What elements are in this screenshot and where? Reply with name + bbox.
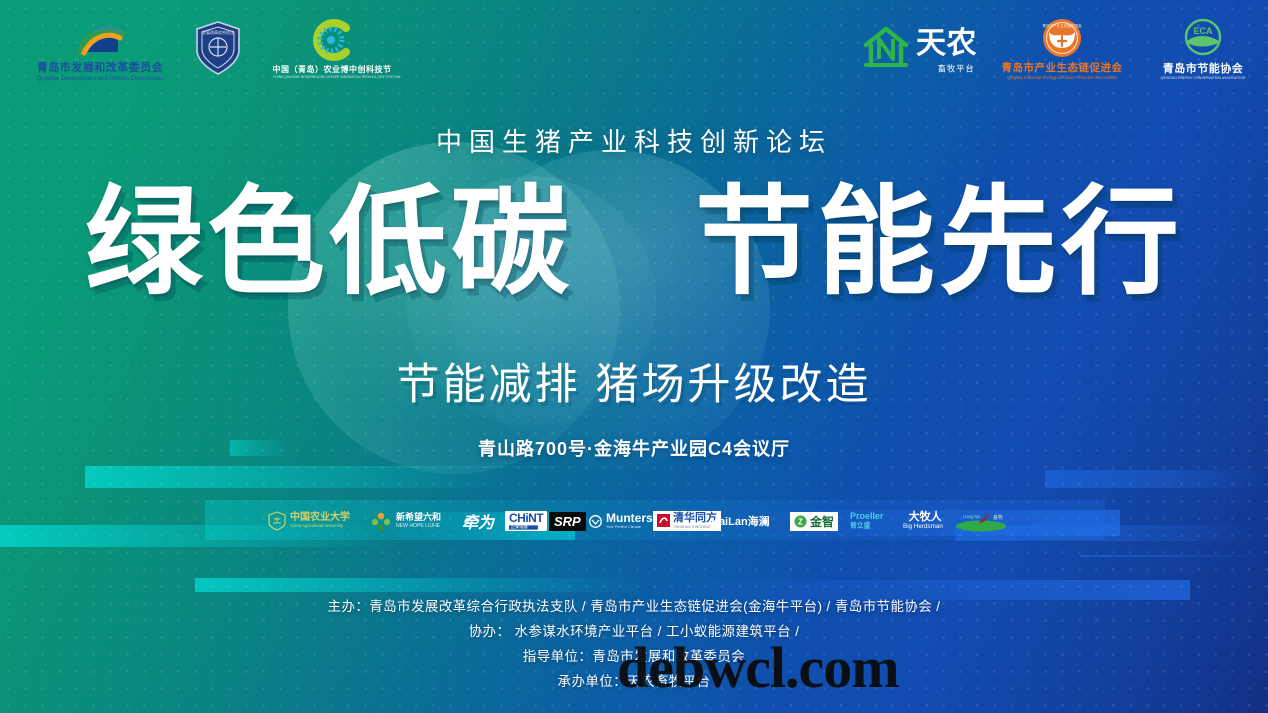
logo-cn-label: 天农 <box>916 18 977 62</box>
liangmu-pasture-icon: Liang Mu 良牧 <box>955 510 1007 532</box>
logo-energy-conservation-association: ECA 青岛市节能协会 QINGDAO ENERGY CONSERVATION … <box>1150 18 1256 80</box>
sponsor-name: 新希望六和 <box>396 513 448 522</box>
new-hope-diamond-icon <box>370 511 392 531</box>
sponsor-name: Proeller <box>850 512 884 521</box>
eca-leaf-circle-icon: ECA <box>1180 18 1226 58</box>
ox-head-circle-icon: 青岛市产业生态链促进会 <box>1041 18 1083 58</box>
top-logo-row: 青岛市发展和改革委员会 Qingdao Development and Refo… <box>0 0 1268 98</box>
tongfang-mark-icon <box>657 514 670 527</box>
sponsor-big-herdsman: 大牧人 Big Herdsman <box>903 508 947 534</box>
logo-en-label: Qingdao Development and Reform Commissio… <box>30 75 170 81</box>
liangmu-cn: 良牧 <box>993 514 1003 521</box>
sponsor-hailan: HaiLan海澜 <box>711 508 770 534</box>
sponsor-benwei: 牵为 <box>462 508 494 534</box>
credit-line-organizers: 主办：青岛市发展改革综合行政执法支队 / 青岛市产业生态链促进会(金海牛平台) … <box>0 594 1268 619</box>
agri-expo-c-icon <box>302 18 362 62</box>
sponsor-name: CHiNT <box>509 512 543 525</box>
jinzhi-mark-icon: Z <box>794 515 807 528</box>
logo-en-label: QINGDAO ENERGY CONSERVATION ASSOCIATION <box>1154 76 1252 80</box>
svg-text:Z: Z <box>798 517 803 526</box>
deco-bar-6 <box>1045 470 1268 488</box>
sponsor-en: Your Perfect Climate <box>606 525 646 529</box>
tiannong-house-icon <box>863 25 909 69</box>
logo-cn-label: 青岛市发展和改革委员会 <box>24 59 176 75</box>
poster-subheadline: 节能减排 猪场升级改造 <box>0 350 1268 412</box>
credits-block: 主办：青岛市发展改革综合行政执法支队 / 青岛市产业生态链促进会(金海牛平台) … <box>0 594 1268 694</box>
eca-monogram: ECA <box>1193 26 1213 36</box>
credit-line-coorganizers: 协办： 水参谋水环境产业平台 / 工小蚁能源建筑平台 / <box>0 619 1268 644</box>
poster-canvas: 青岛市发展和改革委员会 Qingdao Development and Refo… <box>0 0 1268 713</box>
sponsor-name: HaiLan海澜 <box>711 513 770 529</box>
sponsor-jinzhi: Z 金智 <box>790 508 838 534</box>
sponsor-en: Big Herdsman <box>903 523 943 530</box>
poster-headline: 绿色低碳 节能先行 <box>0 181 1268 306</box>
cau-crest-icon <box>268 511 286 531</box>
logo-en-label: CHINA QINGDAO MODERN AGRICULTURE INNOVAT… <box>273 75 391 79</box>
logo-qingdao-development-reform-commission: 青岛市发展和改革委员会 Qingdao Development and Refo… <box>24 22 176 82</box>
sponsor-china-agricultural-university: 中国农业大学 China Agricultural University <box>268 508 353 534</box>
logo-cn-label: 青岛市产业生态链促进会 <box>990 60 1134 75</box>
logo-china-qingdao-agri-expo: 中国（青岛）农业博中创科技节 CHINA QINGDAO MODERN AGRI… <box>268 18 396 79</box>
credit-line-host-unit: 承办单位：天农畜牧平台 <box>0 669 1268 694</box>
sponsor-name: 大牧人 <box>909 512 942 524</box>
deco-bar-4 <box>195 578 645 592</box>
sponsor-name: SRP <box>554 514 581 529</box>
sponsor-en: TSINGHUA TONGFANG <box>673 525 710 529</box>
sponsor-new-hope-liuhe: 新希望六和 NEW HOPE LIUHE <box>370 508 448 534</box>
sponsor-logo-strip: 中国农业大学 China Agricultural University 新希望… <box>0 500 1268 550</box>
sponsor-chint: CHiNT 正泰电器 <box>505 508 547 534</box>
forum-name: 中国生猪产业科技创新论坛 <box>0 122 1268 159</box>
sponsor-en: NEW HOPE LIUHE <box>396 523 440 528</box>
sponsor-liang-mu: Liang Mu 良牧 <box>955 508 1007 534</box>
logo-law-enforcement-emblem: 发展改革综合执法 <box>192 20 244 76</box>
deco-bar-5 <box>85 466 585 468</box>
sponsor-cn: 普立盛 <box>850 522 879 529</box>
venue-address: 青山路700号·金海牛产业园C4会议厅 <box>0 435 1268 461</box>
logo-industrial-ecological-chain: 青岛市产业生态链促进会 青岛市产业生态链促进会 Qingdao Industri… <box>990 18 1134 80</box>
sponsor-sub: 正泰电器 <box>509 525 538 529</box>
logo-cn-label: 中国（青岛）农业博中创科技节 <box>268 64 396 75</box>
qddrc-emblem-icon <box>72 22 128 56</box>
shield-text: 发展改革综合执法 <box>202 29 234 35</box>
sponsor-en: China Agricultural University <box>290 524 343 528</box>
deco-bar-1 <box>85 468 515 488</box>
munters-mark-icon <box>589 515 602 528</box>
sponsor-munters: Munters Your Perfect Climate <box>589 508 653 534</box>
sponsor-srp: SRP <box>549 508 586 534</box>
logo-en-label: Qingdao Industrial Ecological Chain Prom… <box>996 75 1128 80</box>
sponsor-proeller: Proeller 普立盛 <box>850 508 884 534</box>
sponsor-name: 牵为 <box>462 509 494 533</box>
sponsor-name: Munters <box>606 512 653 525</box>
logo-cn-label: 青岛市节能协会 <box>1150 60 1256 76</box>
logo-tiannong-livestock: 天农 畜牧平台 <box>855 18 985 75</box>
liangmu-en: Liang Mu <box>963 514 981 519</box>
police-shield-icon: 发展改革综合执法 <box>194 20 242 76</box>
logo-en-label: 畜牧平台 <box>918 63 974 75</box>
sponsor-name: 中国农业大学 <box>290 513 353 524</box>
ox-ring-text: 青岛市产业生态链促进会 <box>1042 23 1082 28</box>
credit-line-guidance-unit: 指导单位：青岛市发展和改革委员会 <box>0 644 1268 669</box>
sponsor-name: 金智 <box>810 513 834 530</box>
deco-bar-10 <box>1080 555 1268 557</box>
